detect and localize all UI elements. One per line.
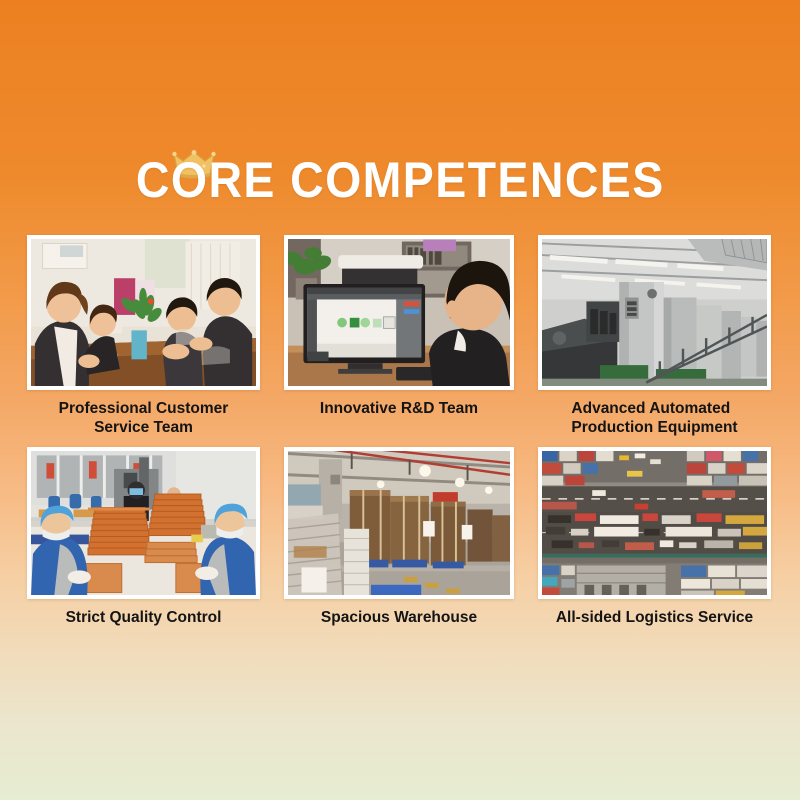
quality-inspection-photo: [27, 447, 260, 599]
logistics-yard-photo: [538, 447, 771, 599]
warehouse-photo: [284, 447, 514, 599]
title-block: CORE COMPETENCES: [0, 152, 800, 208]
competence-card-advanced-automated-production-equipment[interactable]: Advanced Automated Production Equipment: [538, 235, 771, 437]
core-competences-banner: CORE COMPETENCES: [0, 0, 800, 800]
meeting-room-photo: [27, 235, 260, 390]
card-caption: All-sided Logistics Service: [556, 608, 753, 627]
card-caption: Advanced Automated Production Equipment: [571, 399, 737, 437]
card-caption: Strict Quality Control: [66, 608, 222, 627]
card-caption: Professional Customer Service Team: [59, 399, 229, 437]
competence-card-professional-customer-service-team[interactable]: Professional Customer Service Team: [27, 235, 260, 437]
competence-card-strict-quality-control[interactable]: Strict Quality Control: [27, 447, 260, 627]
competence-card-all-sided-logistics-service[interactable]: All-sided Logistics Service: [538, 447, 771, 627]
card-caption: Spacious Warehouse: [321, 608, 477, 627]
card-caption: Innovative R&D Team: [320, 399, 478, 418]
competence-card-spacious-warehouse[interactable]: Spacious Warehouse: [284, 447, 514, 627]
designer-workstation-photo: [284, 235, 514, 390]
competences-grid: Professional Customer Service Team: [27, 235, 774, 627]
competence-card-innovative-rd-team[interactable]: Innovative R&D Team: [284, 235, 514, 437]
printing-press-photo: [538, 235, 771, 390]
page-title: CORE COMPETENCES: [136, 152, 665, 208]
